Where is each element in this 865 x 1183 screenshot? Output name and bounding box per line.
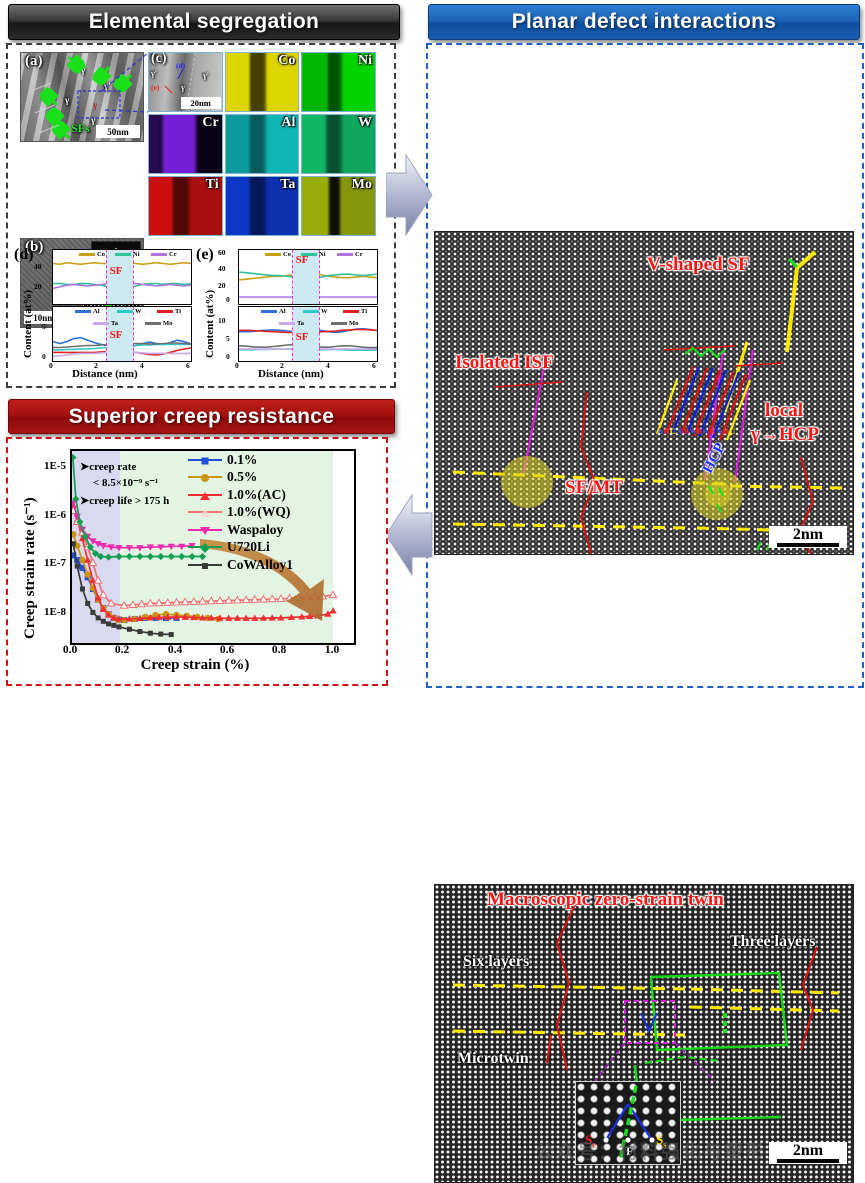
creep-ytick-1e6: 1E-6 bbox=[20, 509, 66, 521]
legend-row-5: U720Li bbox=[188, 539, 293, 557]
arrow-to-creep bbox=[386, 485, 434, 585]
header-planar-defect-interactions: Planar defect interactions bbox=[428, 4, 860, 40]
profile-d-xtick-0: 0 bbox=[49, 361, 53, 370]
profile-e-legend-ti: Ti bbox=[343, 308, 367, 315]
profile-e-xlabel: Distance (nm) bbox=[258, 368, 324, 380]
sf-label-d-bottom: SF bbox=[110, 329, 123, 341]
creep-ytick-1e7: 1E-7 bbox=[20, 557, 66, 569]
creep-note-rate: ➤creep rate bbox=[80, 461, 136, 475]
hrtem-bottom-image: Macroscopic zero-strain twin Six layers … bbox=[434, 884, 854, 1183]
legend-row-4: Waspaloy bbox=[188, 521, 293, 539]
profile-e-legend-w: W bbox=[303, 308, 328, 315]
profile-d-xlabel: Distance (nm) bbox=[72, 368, 138, 380]
creep-legend: 0.1% 0.5% 1.0%(AC) 1.0%(WQ) Waspaloy U72… bbox=[188, 451, 293, 574]
profile-d-ytick-5: 5 bbox=[42, 322, 46, 331]
creep-ytick-1e5: 1E-5 bbox=[20, 460, 66, 472]
hrtem-top-image: ABCABABABABC V-shaped SF Isolated ISF lo… bbox=[434, 231, 854, 555]
profile-e-legend-cr: Cr bbox=[337, 251, 363, 258]
profile-chart-e: (e) Content (at%) SF Co Ni Cr 60 40 20 0 bbox=[196, 246, 380, 378]
arrow-to-planar bbox=[386, 145, 434, 245]
profile-e-legend-al: Al bbox=[261, 308, 286, 315]
profile-e-xtick-4: 4 bbox=[326, 361, 330, 370]
element-map-ni: Ni bbox=[301, 52, 376, 112]
legend-row-2: 1.0%(AC) bbox=[188, 486, 293, 504]
creep-xlabel: Creep strain (%) bbox=[8, 657, 382, 674]
header-superior-creep-resistance: Superior creep resistance bbox=[8, 399, 395, 434]
profile-d-ylabel: Content (at%) bbox=[22, 290, 34, 358]
creep-ytick-1e8: 1E-8 bbox=[20, 606, 66, 618]
creep-note-life: ➤creep life > 175 h bbox=[80, 495, 169, 509]
creep-xtick-08: 0.8 bbox=[272, 644, 286, 656]
profile-e-bottom: SF Al W Ti Ta Mo bbox=[238, 306, 378, 362]
profile-e-ytick-40: 40 bbox=[218, 264, 226, 273]
element-map-ta: Ta bbox=[225, 176, 300, 236]
profile-d-legend-ni: Ni bbox=[115, 251, 140, 258]
creep-note-rate-value: < 8.5×10⁻⁹ s⁻¹ bbox=[93, 477, 158, 491]
profile-d-legend-al: Al bbox=[75, 308, 100, 315]
profile-e-top: SF Co Ni Cr bbox=[238, 249, 378, 305]
creep-xtick-0: 0.0 bbox=[63, 644, 77, 656]
legend-line-2 bbox=[188, 494, 222, 496]
profile-d-legend-mo: Mo bbox=[145, 320, 172, 327]
scalebar-hrtem-bottom: 2nm bbox=[769, 1142, 847, 1164]
zoom-connector-a-to-c bbox=[90, 50, 250, 120]
profile-d-legend-co: Co bbox=[79, 251, 105, 258]
profile-d-legend-cr: Cr bbox=[151, 251, 177, 258]
profile-e-legend-co: Co bbox=[265, 251, 291, 258]
legend-row-0: 0.1% bbox=[188, 451, 293, 469]
legend-row-3: 1.0%(WQ) bbox=[188, 504, 293, 522]
header-planar-label: Planar defect interactions bbox=[512, 10, 777, 34]
profile-d-top: SF Co Ni Cr bbox=[52, 249, 192, 305]
legend-line-0 bbox=[188, 459, 222, 461]
profile-chart-d: (d) Content (at%) SF Co Ni Cr 40 20 bbox=[14, 246, 194, 378]
panel-d-label: (d) bbox=[14, 246, 34, 264]
header-elemental-label: Elemental segregation bbox=[89, 10, 319, 34]
profile-d-ytick-0: 0 bbox=[42, 352, 46, 361]
header-creep-label: Superior creep resistance bbox=[69, 405, 334, 429]
profile-d-ytick-20: 20 bbox=[34, 282, 42, 291]
sf-label-e-bottom: SF bbox=[296, 331, 309, 343]
watermark: 公众号：材料强化与塑形 bbox=[535, 1137, 766, 1164]
legend-line-3 bbox=[188, 511, 222, 513]
profile-e-xtick-0: 0 bbox=[235, 361, 239, 370]
profile-e-ytick-0: 0 bbox=[226, 295, 230, 304]
creep-xtick-04: 0.4 bbox=[168, 644, 182, 656]
legend-line-4 bbox=[188, 529, 222, 531]
profile-d-legend-ta: Ta bbox=[93, 320, 118, 327]
hrtem-top-overlays bbox=[435, 232, 853, 554]
element-map-ti: Ti bbox=[148, 176, 223, 236]
scalebar-hrtem-top: 2nm bbox=[769, 526, 847, 548]
profile-e-ytick-b0: 0 bbox=[226, 352, 230, 361]
creep-chart: Creep strain rate (s⁻¹) 1E-5 1E-6 1E-7 1… bbox=[8, 439, 382, 680]
profile-e-ylabel: Content (at%) bbox=[204, 290, 216, 358]
creep-xtick-02: 0.2 bbox=[115, 644, 129, 656]
sf-label-d-top: SF bbox=[110, 265, 123, 277]
element-map-mo: Mo bbox=[301, 176, 376, 236]
profile-e-ytick-60: 60 bbox=[218, 248, 226, 257]
profile-e-legend-mo: Mo bbox=[331, 320, 358, 327]
element-map-cr: Cr bbox=[148, 114, 223, 174]
creep-xtick-06: 0.6 bbox=[220, 644, 234, 656]
element-map-w: W bbox=[301, 114, 376, 174]
profile-d-xtick-4: 4 bbox=[140, 361, 144, 370]
header-elemental-segregation: Elemental segregation bbox=[8, 4, 400, 40]
profile-d-legend-ti: Ti bbox=[157, 308, 181, 315]
profile-e-legend-ta: Ta bbox=[279, 320, 304, 327]
profile-e-ytick-b5: 5 bbox=[226, 334, 230, 343]
profile-d-ytick-40: 40 bbox=[34, 262, 42, 271]
profile-e-legend-ni: Ni bbox=[301, 251, 326, 258]
creep-xtick-10: 1.0 bbox=[325, 644, 339, 656]
profile-d-legend-w: W bbox=[117, 308, 142, 315]
profile-e-ytick-b10: 10 bbox=[218, 316, 226, 325]
legend-line-5 bbox=[188, 546, 222, 548]
legend-row-6: CoWAlloy1 bbox=[188, 556, 293, 574]
panel-e-label: (e) bbox=[196, 246, 214, 264]
profile-d-bottom: SF Al W Ti Ta Mo bbox=[52, 306, 192, 362]
scalebar-a: 50nm bbox=[96, 125, 140, 138]
legend-line-1 bbox=[188, 476, 222, 478]
element-map-al: Al bbox=[225, 114, 300, 174]
profile-e-ytick-20: 20 bbox=[218, 281, 226, 290]
profile-e-xtick-6: 6 bbox=[372, 361, 376, 370]
legend-row-1: 0.5% bbox=[188, 469, 293, 487]
legend-line-6 bbox=[188, 564, 222, 566]
profile-d-xtick-6: 6 bbox=[186, 361, 190, 370]
stacking-sequence-labels: ABCABABABABC bbox=[657, 427, 736, 436]
